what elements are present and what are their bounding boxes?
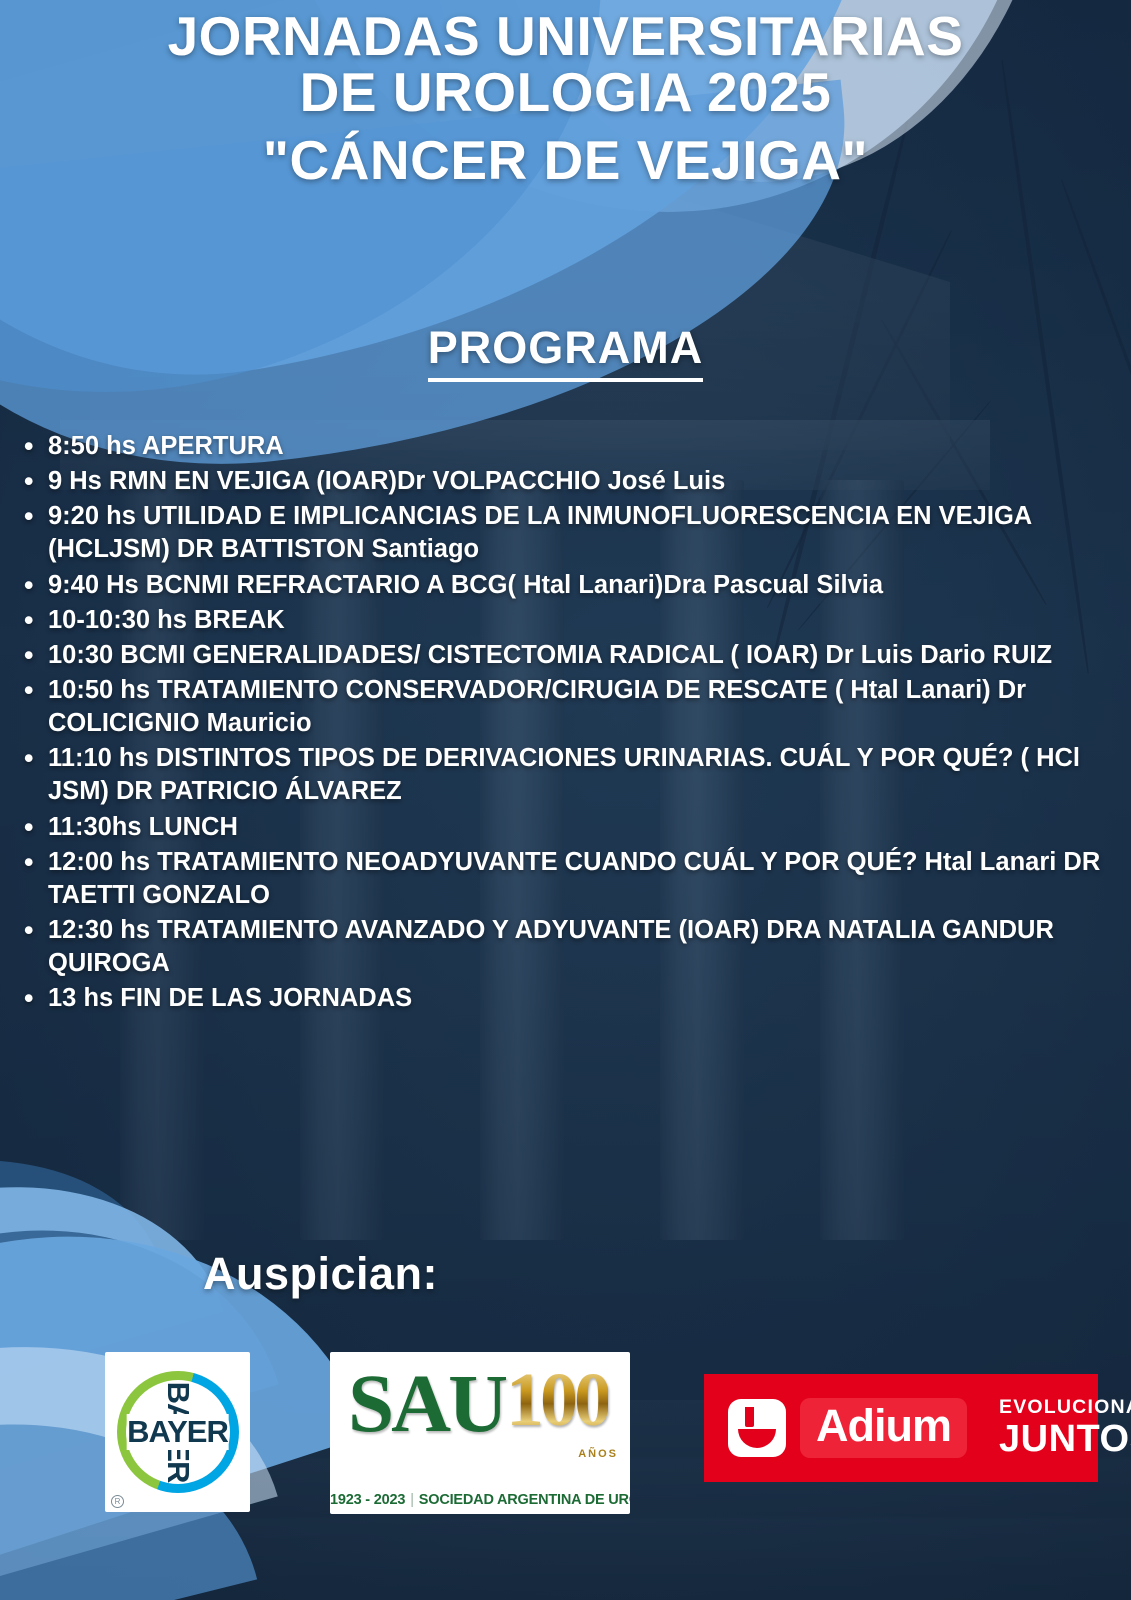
bayer-logo: BAYER BAYER R — [105, 1352, 250, 1512]
agenda-item: 12:00 hs TRATAMIENTO NEOADYUVANTE CUANDO… — [22, 846, 1113, 912]
agenda-item: 11:30hs LUNCH — [22, 811, 1113, 844]
agenda-item: 10:50 hs TRATAMIENTO CONSERVADOR/CIRUGIA… — [22, 674, 1113, 740]
agenda-item: 12:30 hs TRATAMIENTO AVANZADO Y ADYUVANT… — [22, 914, 1113, 980]
sau-logo: SAU 100 AÑOS 1923 - 2023|SOCIEDAD ARGENT… — [330, 1352, 630, 1514]
adium-wordmark-pill: Adium — [800, 1398, 967, 1458]
agenda-item: 13 hs FIN DE LAS JORNADAS — [22, 982, 1113, 1015]
agenda-item: 10:30 BCMI GENERALIDADES/ CISTECTOMIA RA… — [22, 639, 1113, 672]
agenda-item: 10-10:30 hs BREAK — [22, 604, 1113, 637]
adium-slogan: EVOLUCIONANDO JUNTOS — [999, 1398, 1131, 1458]
agenda-item: 11:10 hs DISTINTOS TIPOS DE DERIVACIONES… — [22, 742, 1113, 808]
programa-heading: PROGRAMA — [428, 322, 704, 382]
agenda-item: 9:20 hs UTILIDAD E IMPLICANCIAS DE LA IN… — [22, 500, 1113, 566]
agenda-item: 9 Hs RMN EN VEJIGA (IOAR)Dr VOLPACCHIO J… — [22, 465, 1113, 498]
sau-anniversary-word: AÑOS — [578, 1448, 618, 1460]
adium-wordmark: Adium — [816, 1400, 951, 1451]
sau-caption: 1923 - 2023|SOCIEDAD ARGENTINA DE UROLOG… — [330, 1492, 630, 1508]
agenda-item: 9:40 Hs BCNMI REFRACTARIO A BCG( Htal La… — [22, 569, 1113, 602]
title-line-1: JORNADAS UNIVERSITARIAS — [24, 8, 1107, 64]
registered-trademark-icon: R — [111, 1495, 124, 1508]
event-poster: JORNADAS UNIVERSITARIAS DE UROLOGIA 2025… — [0, 0, 1131, 1600]
bayer-wordmark-horizontal: BAYER — [126, 1414, 229, 1450]
title-line-3: "CÁNCER DE VEJIGA" — [24, 132, 1107, 188]
sponsors-heading: Auspician: — [0, 1248, 1131, 1300]
adium-logo: Adium EVOLUCIONANDO JUNTOS — [704, 1374, 1098, 1482]
sau-years: 1923 - 2023 — [330, 1492, 405, 1508]
sau-acronym: SAU — [348, 1362, 505, 1445]
sau-logo-main: SAU 100 AÑOS — [330, 1356, 630, 1468]
agenda-item: 8:50 hs APERTURA — [22, 430, 1113, 463]
programa-heading-wrap: PROGRAMA — [0, 322, 1131, 382]
sau-anniversary-number: 100 — [506, 1362, 608, 1438]
sponsor-logos: BAYER BAYER R SAU 100 AÑOS 1923 - 2023|S… — [0, 1352, 1131, 1522]
sau-separator: | — [410, 1492, 414, 1508]
title-line-2: DE UROLOGIA 2025 — [24, 64, 1107, 120]
adium-mark-icon — [728, 1399, 786, 1457]
adium-slogan-line-2: JUNTOS — [999, 1420, 1131, 1458]
sau-full-name: SOCIEDAD ARGENTINA DE UROLOGÍA — [419, 1492, 630, 1508]
poster-title: JORNADAS UNIVERSITARIAS DE UROLOGIA 2025… — [0, 8, 1131, 188]
adium-slogan-line-1: EVOLUCIONANDO — [999, 1398, 1131, 1418]
agenda-list: 8:50 hs APERTURA9 Hs RMN EN VEJIGA (IOAR… — [22, 430, 1113, 1017]
